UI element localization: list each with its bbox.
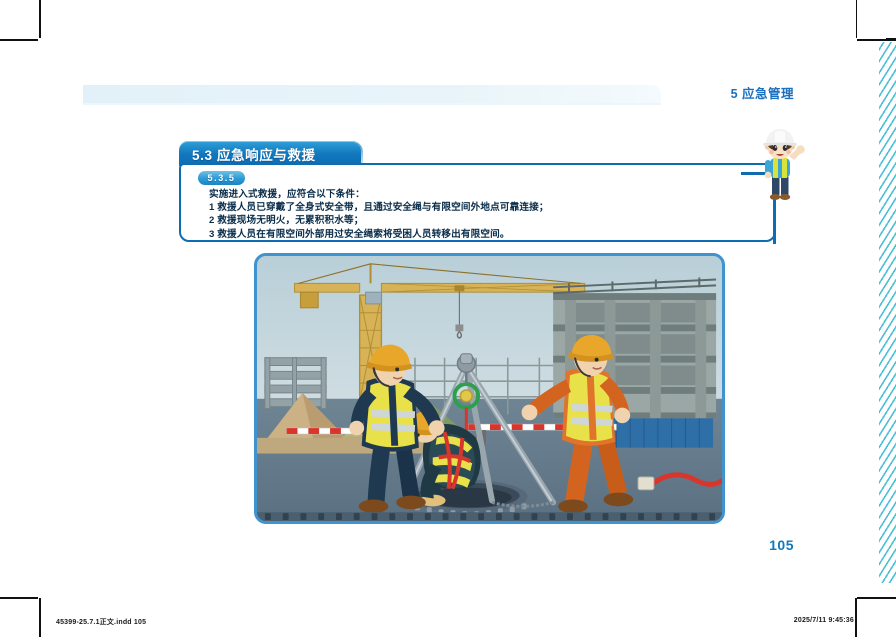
section-title-text: 5.3 应急响应与救援 — [192, 144, 316, 164]
stripe-band-cap-rule — [886, 38, 896, 40]
footer-file-slug: 45399-25.7.1正文.indd 105 — [56, 617, 146, 627]
clause-line-1: 1 救援人员已穿戴了全身式安全带，且通过安全绳与有限空间外地点可靠连接； — [209, 201, 764, 214]
clause-line-0: 实施进入式救援，应符合以下条件： — [209, 188, 764, 201]
crop-mark-top-left-horizontal — [0, 39, 38, 41]
header-band-underline — [83, 103, 661, 105]
crop-mark-bottom-right-vertical — [855, 598, 857, 637]
header-band — [83, 85, 661, 104]
page-number: 105 — [769, 537, 794, 553]
rescue-illustration — [257, 256, 722, 521]
clause-number-badge: 5.3.5 — [198, 171, 245, 185]
construction-worker-mascot-icon — [753, 126, 807, 202]
running-head: 5 应急管理 — [731, 83, 794, 102]
edge-stripe-decoration — [879, 42, 896, 583]
rescue-illustration-frame — [254, 253, 725, 524]
clause-content-box: 5.3.5 实施进入式救援，应符合以下条件： 1 救援人员已穿戴了全身式安全带，… — [179, 163, 776, 242]
crop-mark-bottom-right-horizontal — [857, 597, 896, 599]
clause-line-3: 3 救援人员在有限空间外部用过安全绳索将受困人员转移出有限空间。 — [209, 228, 764, 241]
footer-timestamp: 2025/7/11 9:45:36 — [794, 617, 854, 624]
crop-mark-bottom-left-horizontal — [0, 597, 38, 599]
page-canvas: 5 应急管理 5.3 应急响应与救援 5.3.5 实施进入式救援，应符合以下条件… — [41, 0, 856, 597]
clause-line-2: 2 救援现场无明火，无累积积水等； — [209, 214, 764, 227]
crop-mark-bottom-left-vertical — [39, 598, 41, 637]
clause-body: 实施进入式救援，应符合以下条件： 1 救援人员已穿戴了全身式安全带，且通过安全绳… — [209, 188, 764, 241]
